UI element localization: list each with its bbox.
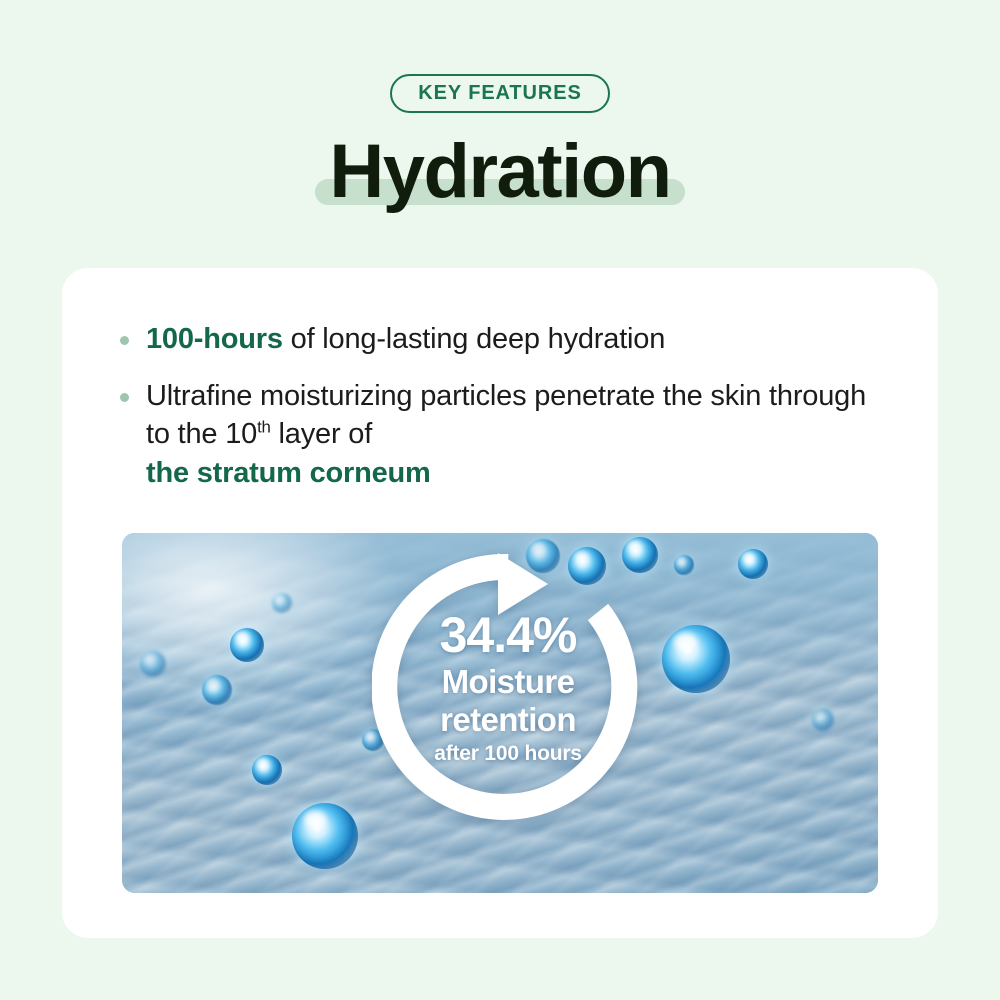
bullet-2-body: Ultrafine moisturizing particles penetra… — [146, 380, 866, 451]
stat-label-line-1: Moisture — [442, 666, 575, 698]
bullet-2-body-after: layer of — [271, 418, 372, 450]
badge-row: KEY FEATURES — [0, 74, 1000, 113]
bubble-icon — [272, 593, 292, 613]
bullet-2-superscript: th — [257, 417, 271, 436]
bubble-icon — [252, 755, 282, 785]
title-inner: Hydration — [307, 128, 692, 215]
bubble-icon — [738, 549, 768, 579]
page-title: Hydration — [307, 128, 692, 215]
bullet-1-highlight: 100-hours — [146, 323, 283, 355]
bullet-2-highlight: the stratum corneum — [146, 457, 431, 489]
photo-corner-glow — [122, 533, 402, 703]
content-card: 100-hours of long-lasting deep hydration… — [62, 268, 938, 938]
stat-value: 34.4% — [440, 610, 577, 660]
bullet-dot-icon — [120, 393, 129, 402]
list-item-text: 100-hours of long-lasting deep hydration — [146, 320, 665, 359]
feature-list: 100-hours of long-lasting deep hydration… — [120, 320, 880, 510]
bubble-icon — [662, 625, 730, 693]
bullet-dot-icon — [120, 336, 129, 345]
list-item: 100-hours of long-lasting deep hydration — [120, 320, 880, 359]
bubble-icon — [812, 709, 834, 731]
key-features-badge: KEY FEATURES — [390, 74, 609, 113]
stat-sublabel: after 100 hours — [434, 743, 582, 764]
list-item: Ultrafine moisturizing particles penetra… — [120, 377, 880, 493]
bubble-icon — [292, 803, 358, 869]
bubble-icon — [202, 675, 232, 705]
bullet-1-body: of long-lasting deep hydration — [283, 323, 665, 355]
list-item-text: Ultrafine moisturizing particles penetra… — [146, 377, 880, 493]
hydration-photo: 34.4% Moisture retention after 100 hours — [122, 533, 878, 893]
page-title-wrap: Hydration — [0, 128, 1000, 228]
stat-label-line-2: retention — [440, 704, 576, 736]
moisture-retention-stat: 34.4% Moisture retention after 100 hours — [372, 551, 644, 823]
bubble-icon — [140, 651, 166, 677]
bubble-icon — [230, 628, 264, 662]
bubble-icon — [674, 555, 694, 575]
